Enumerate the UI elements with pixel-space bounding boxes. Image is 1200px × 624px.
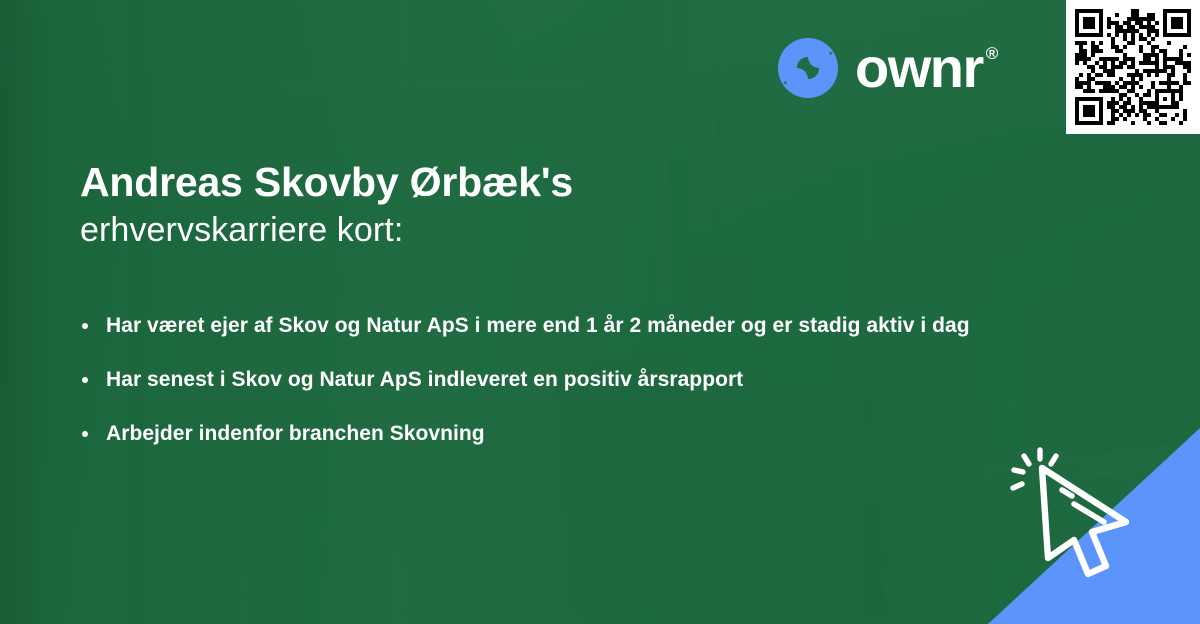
bullet-icon (82, 323, 88, 329)
career-facts-list: Har været ejer af Skov og Natur ApS i me… (80, 310, 980, 450)
page-title-line1: Andreas Skovby Ørbæk's (80, 158, 960, 206)
list-item-text: Arbejder indenfor branchen Skovning (106, 422, 485, 445)
bullet-icon (82, 431, 88, 437)
page-title-line2: erhvervskarriere kort: (80, 210, 960, 251)
list-item-text: Har været ejer af Skov og Natur ApS i me… (106, 314, 970, 337)
business-career-card: ownr ® Andreas Skovby Ørbæk's erhvervska… (0, 0, 1200, 624)
page-title: Andreas Skovby Ørbæk's erhvervskarriere … (80, 158, 960, 251)
list-item-text: Har senest i Skov og Natur ApS indlevere… (106, 368, 743, 391)
registered-trademark-symbol: ® (986, 45, 997, 62)
list-item: Har senest i Skov og Natur ApS indlevere… (80, 364, 980, 396)
corner-accent-wedge (988, 428, 1200, 624)
brand-wordmark: ownr (855, 41, 983, 94)
qr-code-panel[interactable] (1066, 0, 1200, 134)
click-cursor-icon (1013, 450, 1126, 574)
list-item: Har været ejer af Skov og Natur ApS i me… (80, 310, 980, 342)
list-item: Arbejder indenfor branchen Skovning (80, 418, 980, 450)
brand-lockup[interactable]: ownr ® (777, 37, 997, 99)
ownr-circle-logo-icon (777, 37, 839, 99)
wedge-shape (988, 428, 1200, 624)
bullet-icon (82, 377, 88, 383)
qr-code-icon[interactable] (1075, 9, 1191, 125)
